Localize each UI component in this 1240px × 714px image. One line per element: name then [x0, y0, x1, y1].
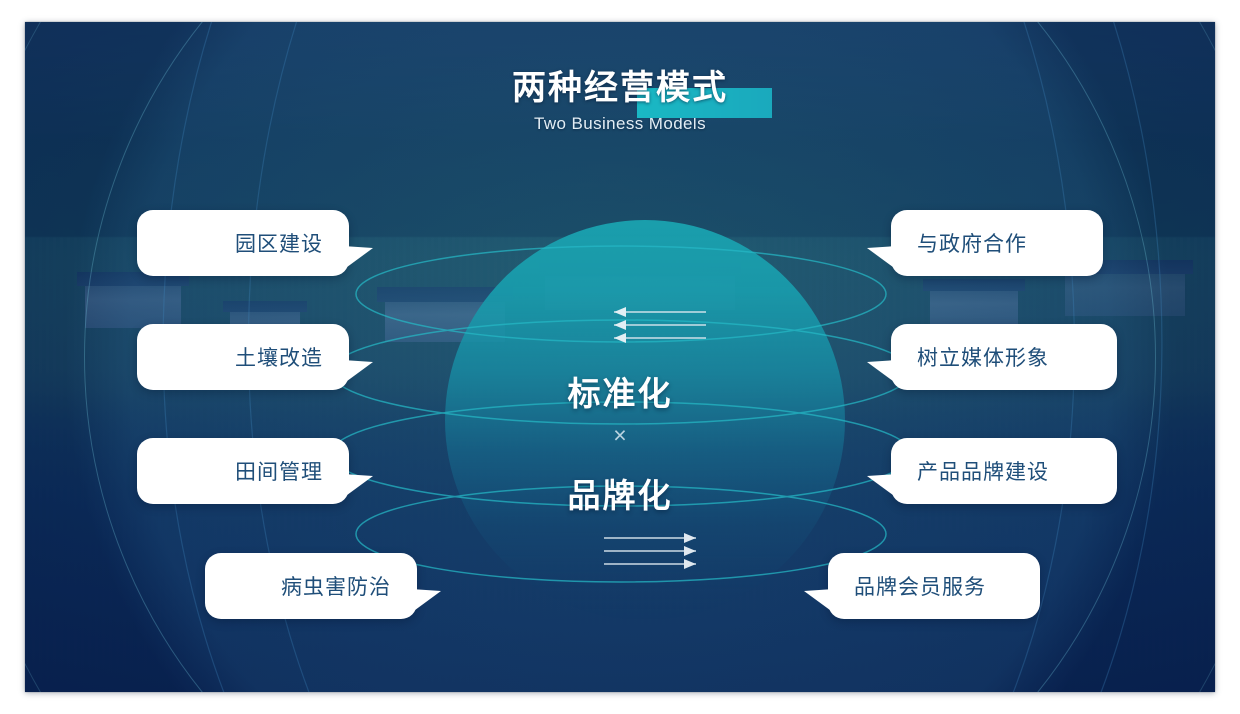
arrow-head-6	[684, 559, 696, 569]
bubble-tail	[411, 589, 441, 613]
bubble-tail	[867, 246, 897, 270]
bubble-park-construction[interactable]: 园区建设	[137, 210, 349, 276]
bubble-media-image[interactable]: 树立媒体形象	[891, 324, 1117, 390]
outbound-arrows-group	[600, 531, 710, 573]
bubble-product-brand-building[interactable]: 产品品牌建设	[891, 438, 1117, 504]
bubble-label: 土壤改造	[137, 342, 349, 372]
arrow-head-2	[614, 320, 626, 330]
bubble-tail	[343, 360, 373, 384]
bubble-label: 园区建设	[137, 228, 349, 258]
bubble-tail	[343, 246, 373, 270]
core-label-branding: 品牌化	[568, 477, 673, 514]
bubble-tail	[867, 474, 897, 498]
bubble-label: 品牌会员服务	[828, 571, 1040, 601]
bubble-label: 产品品牌建设	[891, 456, 1117, 486]
title-row: 两种经营模式	[512, 60, 728, 109]
bubble-label: 与政府合作	[891, 228, 1103, 258]
bubble-field-management[interactable]: 田间管理	[137, 438, 349, 504]
bubble-tail	[867, 360, 897, 384]
bubble-government-cooperation[interactable]: 与政府合作	[891, 210, 1103, 276]
slide-title-block: 两种经营模式 Two Business Models	[25, 60, 1215, 134]
bubble-label: 田间管理	[137, 456, 349, 486]
core-label-standardization: 标准化	[568, 375, 673, 412]
bubble-label: 树立媒体形象	[891, 342, 1117, 372]
bubble-brand-member-service[interactable]: 品牌会员服务	[828, 553, 1040, 619]
bubble-label: 病虫害防治	[205, 571, 417, 601]
page-title: 两种经营模式	[512, 60, 728, 109]
page-subtitle: Two Business Models	[25, 114, 1215, 134]
arrow-head-5	[684, 546, 696, 556]
screenshot-canvas: 两种经营模式 Two Business Models 标准化 × 品牌化	[0, 0, 1240, 714]
bubble-soil-improvement[interactable]: 土壤改造	[137, 324, 349, 390]
arrow-head-1	[614, 307, 626, 317]
presentation-slide: 两种经营模式 Two Business Models 标准化 × 品牌化	[25, 22, 1215, 692]
bubble-tail	[804, 589, 834, 613]
arrow-head-3	[614, 333, 626, 343]
inbound-arrows-group	[600, 305, 710, 347]
bubble-tail	[343, 474, 373, 498]
arrow-head-4	[684, 533, 696, 543]
bubble-pest-control[interactable]: 病虫害防治	[205, 553, 417, 619]
